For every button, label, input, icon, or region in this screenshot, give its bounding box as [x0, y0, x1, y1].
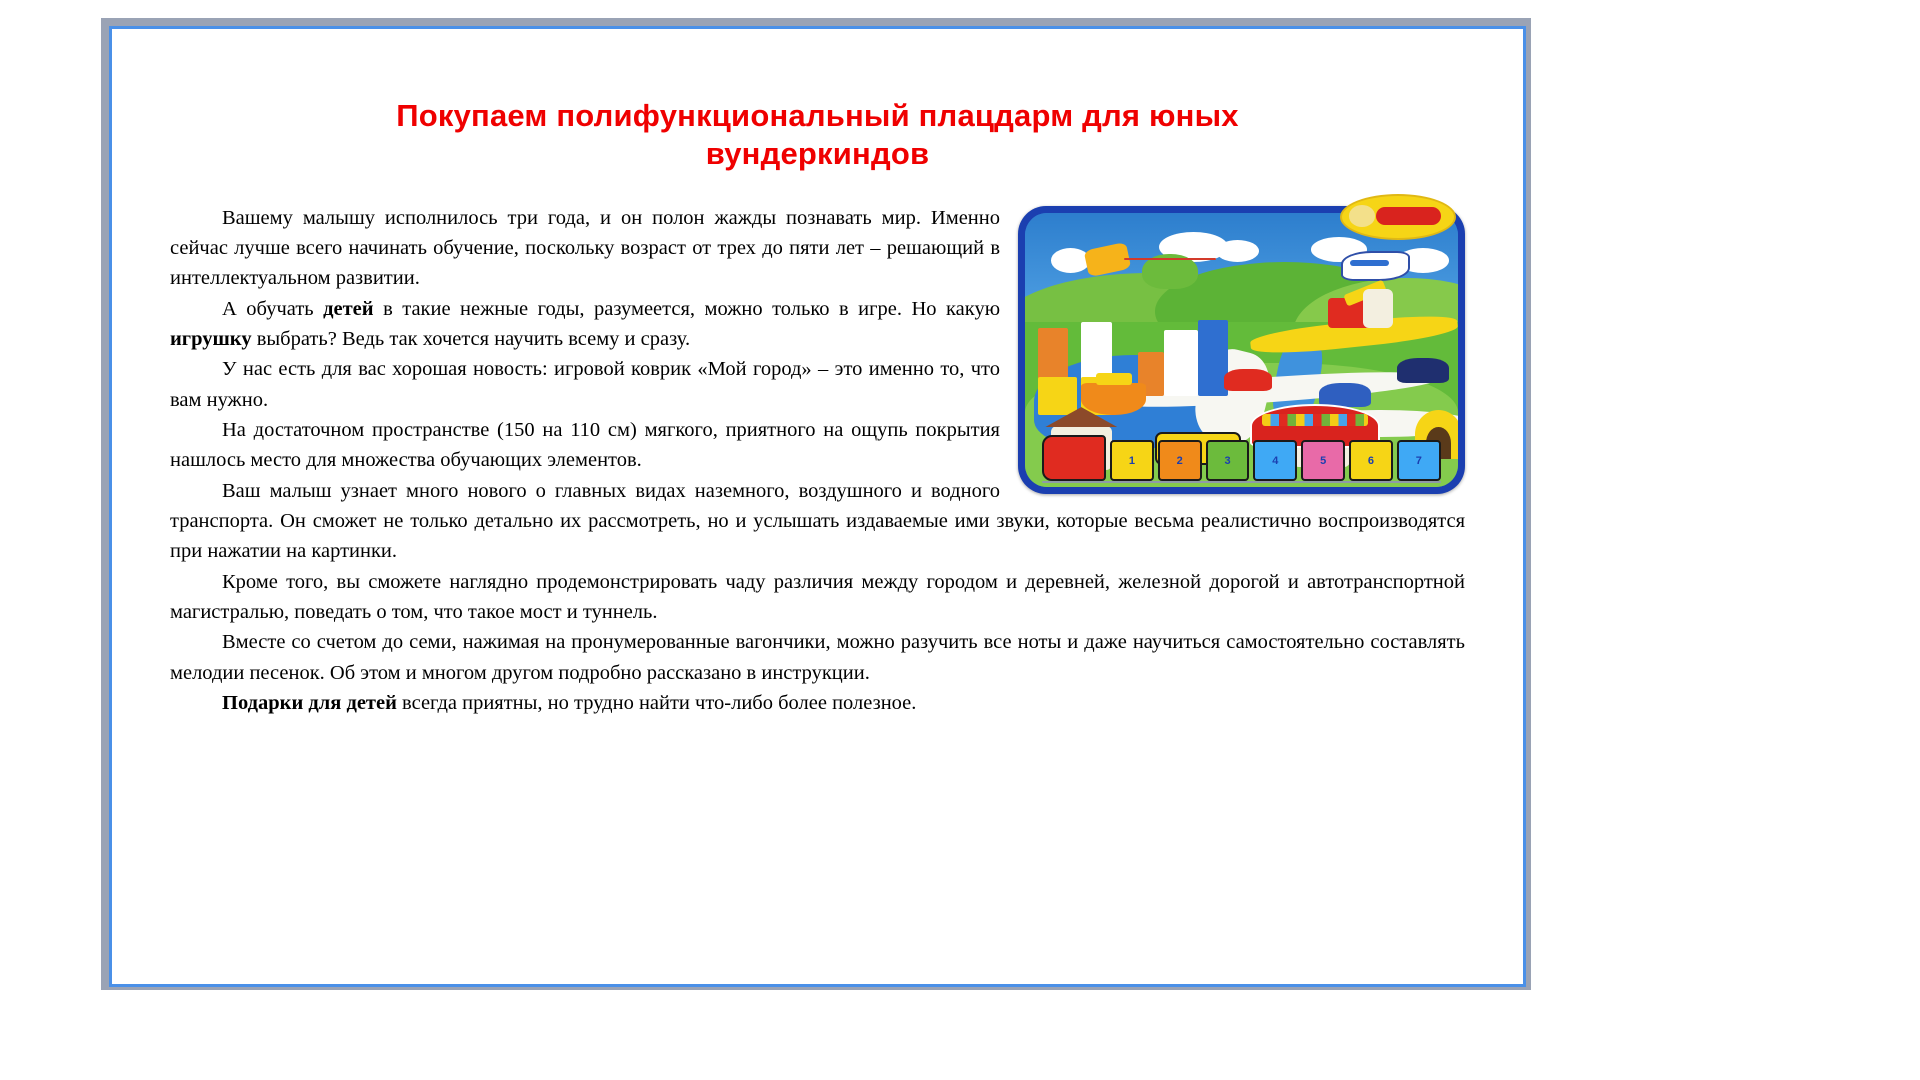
- play-mat-image: 1 2 3 4 5 6 7: [1018, 206, 1465, 494]
- play-mat-scene: 1 2 3 4 5 6 7: [1025, 213, 1458, 487]
- cloud-icon: [1051, 248, 1090, 273]
- train-engine: [1042, 435, 1106, 482]
- body-text-run: выбрать? Ведь так хочется научить всему …: [252, 328, 691, 350]
- page-title-line-2: вундеркиндов: [303, 135, 1333, 173]
- helicopter-icon: [1142, 254, 1198, 290]
- building-shape: [1038, 377, 1077, 415]
- boat-icon: [1081, 383, 1146, 416]
- body-text-run: У нас есть для вас хорошая новость: игро…: [170, 358, 1000, 410]
- church-icon: [1363, 289, 1393, 327]
- train-rail: [1042, 481, 1440, 483]
- train-car-2: 2: [1158, 440, 1202, 481]
- body-paragraph: Вместе со счетом до семи, нажимая на про…: [170, 627, 1465, 688]
- emphasis-text: игрушку: [170, 328, 252, 350]
- badge-label: [1376, 207, 1441, 225]
- emphasis-text: Подарки для детей: [222, 692, 397, 714]
- train-car-3: 3: [1206, 440, 1250, 481]
- body-paragraph: Подарки для детей всегда приятны, но тру…: [170, 688, 1465, 718]
- page-canvas: Покупаем полифункциональный плацдарм для…: [0, 0, 1920, 1080]
- train-car-1: 1: [1110, 440, 1154, 481]
- train-car-6: 6: [1349, 440, 1393, 481]
- document-page: Покупаем полифункциональный плацдарм для…: [109, 26, 1526, 987]
- body-text-run: всегда приятны, но трудно найти что-либо…: [397, 692, 916, 714]
- article-body: 1 2 3 4 5 6 7: [170, 203, 1465, 719]
- body-text-run: Вместе со счетом до семи, нажимая на про…: [170, 631, 1465, 683]
- body-text-run: А обучать: [222, 298, 323, 320]
- cloud-icon: [1216, 240, 1259, 262]
- banner-letters: [1262, 414, 1368, 427]
- body-text-run: Вашему малышу исполнилось три года, и он…: [170, 207, 1000, 290]
- building-shape: [1164, 330, 1199, 396]
- sound-badge: [1340, 194, 1456, 240]
- body-text-run: Кроме того, вы сможете наглядно продемон…: [170, 571, 1465, 623]
- train-car-7: 7: [1397, 440, 1441, 481]
- page-title-line-1: Покупаем полифункциональный плацдарм для…: [303, 97, 1333, 135]
- train-car-4: 4: [1253, 440, 1297, 481]
- badge-speaker-icon: [1349, 205, 1376, 227]
- play-mat-figure: 1 2 3 4 5 6 7: [1018, 206, 1465, 494]
- body-text-run: На достаточном пространстве (150 на 110 …: [170, 419, 1000, 471]
- page-content: Покупаем полифункциональный плацдарм для…: [112, 29, 1523, 984]
- emphasis-text: детей: [323, 298, 373, 320]
- toy-train: 1 2 3 4 5 6 7: [1042, 435, 1440, 482]
- body-paragraph: Кроме того, вы сможете наглядно продемон…: [170, 567, 1465, 628]
- red-car-icon: [1224, 369, 1272, 391]
- train-car-5: 5: [1301, 440, 1345, 481]
- body-text-run: в такие нежные годы, разумеется, можно т…: [374, 298, 1000, 320]
- police-car-icon: [1397, 358, 1449, 383]
- page-title: Покупаем полифункциональный плацдарм для…: [303, 97, 1333, 173]
- airplane-icon: [1341, 251, 1410, 281]
